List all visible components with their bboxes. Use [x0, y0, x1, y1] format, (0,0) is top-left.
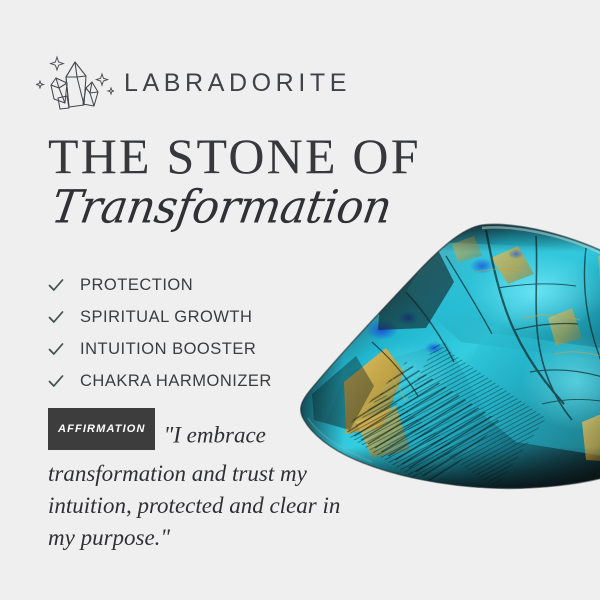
- labradorite-poster: LABRADORITE THE STONE OF Transformation …: [0, 0, 600, 600]
- list-item-label: INTUITION BOOSTER: [80, 340, 256, 359]
- status-badge: AFFIRMATION: [48, 408, 155, 450]
- list-item-label: CHAKRA HARMONIZER: [80, 372, 272, 391]
- page-subtitle-script: Transformation: [48, 185, 394, 231]
- list-item-label: SPIRITUAL GROWTH: [80, 308, 252, 327]
- crystal-cluster-icon: [36, 52, 114, 114]
- check-icon: [46, 275, 66, 295]
- affirmation-text: AFFIRMATION"I embrace transformation and…: [48, 416, 348, 554]
- list-item: CHAKRA HARMONIZER: [46, 365, 346, 397]
- list-item: PROTECTION: [46, 269, 346, 301]
- list-item: SPIRITUAL GROWTH: [46, 301, 346, 333]
- check-icon: [46, 339, 66, 359]
- affirmation-quote-start: "I embrace: [164, 422, 266, 447]
- affirmation-block: AFFIRMATION"I embrace transformation and…: [48, 416, 348, 554]
- check-icon: [46, 371, 66, 391]
- crystal-cluster-glyph: [36, 52, 114, 114]
- page-title: THE STONE OF: [48, 131, 421, 181]
- brand-lockup: LABRADORITE: [36, 52, 351, 114]
- brand-name: LABRADORITE: [124, 69, 351, 98]
- list-item-label: PROTECTION: [80, 276, 193, 295]
- benefits-list: PROTECTION SPIRITUAL GROWTH INTUITION BO…: [46, 269, 346, 397]
- affirmation-quote-rest: transformation and trust my intuition, p…: [48, 461, 340, 550]
- check-icon: [46, 307, 66, 327]
- list-item: INTUITION BOOSTER: [46, 333, 346, 365]
